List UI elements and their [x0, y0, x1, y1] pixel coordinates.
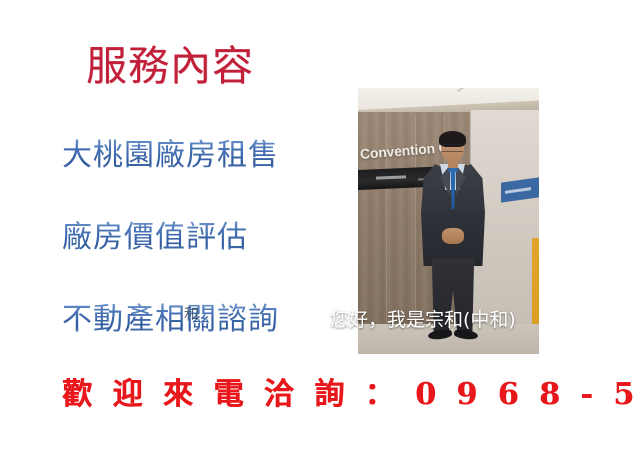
clasped-hands — [442, 228, 464, 244]
service-item-2: 廠房價值評估 — [62, 212, 248, 256]
photo-caption: 您好，我是宗和(中和) — [330, 305, 516, 332]
glasses-icon — [442, 144, 463, 152]
overlap-glyph-artifact: 和 — [183, 306, 200, 323]
contact-line: 歡 迎 來 電 洽 詢 ： 0 9 6 8 - 5 1 9 - 8 8 8 — [62, 369, 640, 413]
service-item-1: 大桃園廠房租售 — [62, 130, 279, 174]
presentation-slide: 服務內容 大桃園廠房租售 廠房價值評估 不動產相關諮詢 和 Convention… — [0, 0, 640, 451]
page-title: 服務內容 — [86, 32, 254, 92]
service-item-3: 不動產相關諮詢 — [62, 294, 279, 338]
